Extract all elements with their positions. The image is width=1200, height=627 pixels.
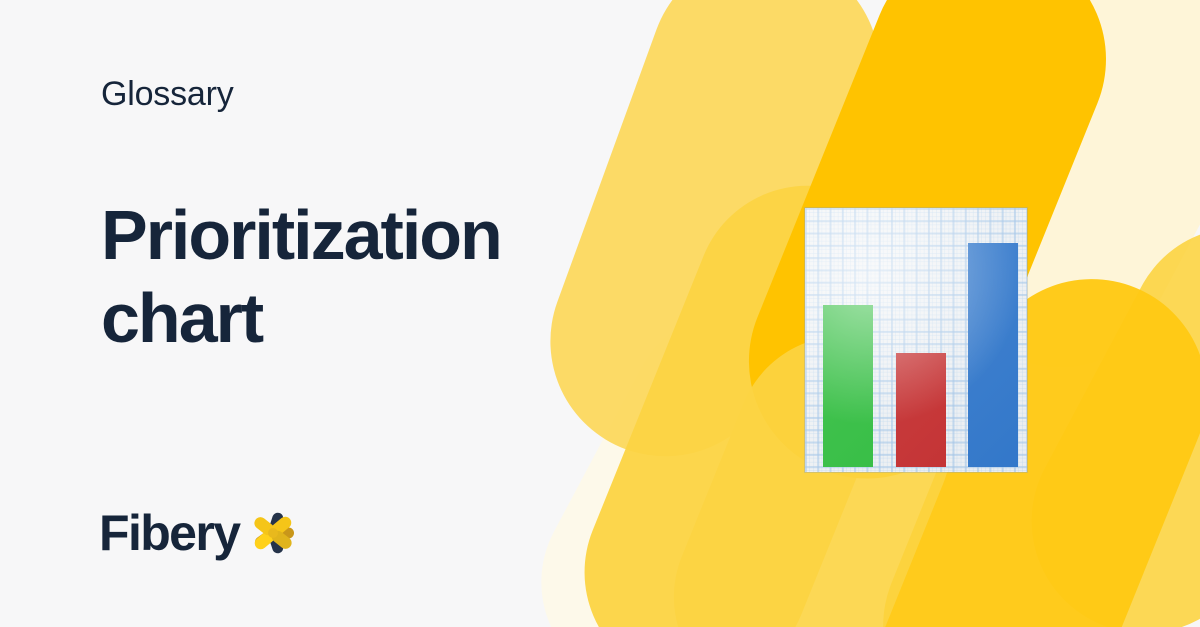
text-content: Glossary Prioritization chart Fibery bbox=[0, 0, 700, 627]
page-title-line-1: Prioritization bbox=[101, 194, 681, 277]
fibery-pinwheel-logo-icon bbox=[249, 509, 297, 557]
chart-plot-area bbox=[805, 208, 1027, 472]
category-eyebrow: Glossary bbox=[101, 72, 234, 116]
chart-bar-1 bbox=[823, 305, 873, 467]
chart-bar-2 bbox=[896, 353, 946, 467]
brand-logo: Fibery bbox=[99, 505, 297, 561]
page-title-line-2: chart bbox=[101, 277, 681, 360]
chart-bar-3 bbox=[968, 243, 1018, 467]
page-title: Prioritization chart bbox=[101, 194, 681, 360]
prioritization-bar-chart-illustration bbox=[805, 208, 1027, 472]
glossary-social-card: Glossary Prioritization chart Fibery bbox=[0, 0, 1200, 627]
brand-name: Fibery bbox=[99, 505, 239, 561]
